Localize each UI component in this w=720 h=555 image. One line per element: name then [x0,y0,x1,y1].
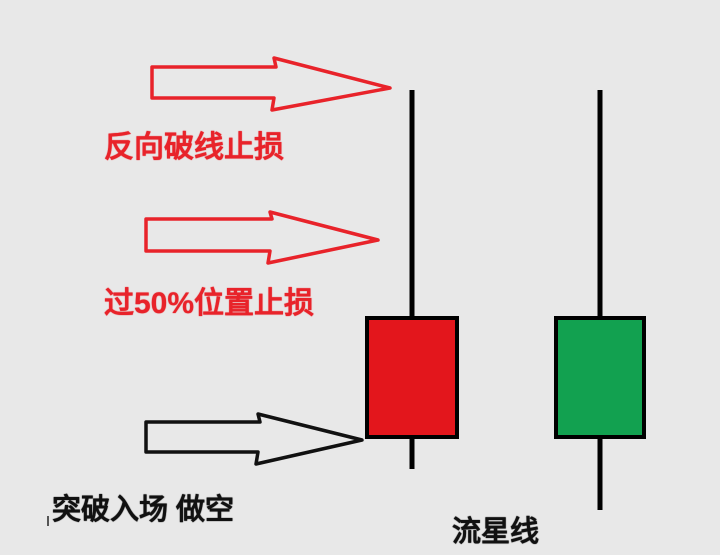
annotation-label-shooting-star: 流星线 [452,508,539,550]
annotation-label-entry-short: 突破入场 做空 [52,486,234,528]
diagram-canvas: 反向破线止损 过50%位置止损 突破入场 做空 流星线 [0,0,720,555]
candle-bullish [556,90,644,510]
hollow-arrow-red-right-top [152,58,390,110]
hollow-arrow-black-right-bottom [146,414,362,464]
annotation-label-stoploss-50: 过50%位置止损 [104,278,314,322]
annotation-label-stoploss-reverse: 反向破线止损 [104,122,284,166]
hollow-arrow-red-right-middle [146,212,378,263]
candle-bearish-body [367,318,457,437]
candle-bullish-body [556,318,644,437]
candle-bearish [367,90,457,469]
